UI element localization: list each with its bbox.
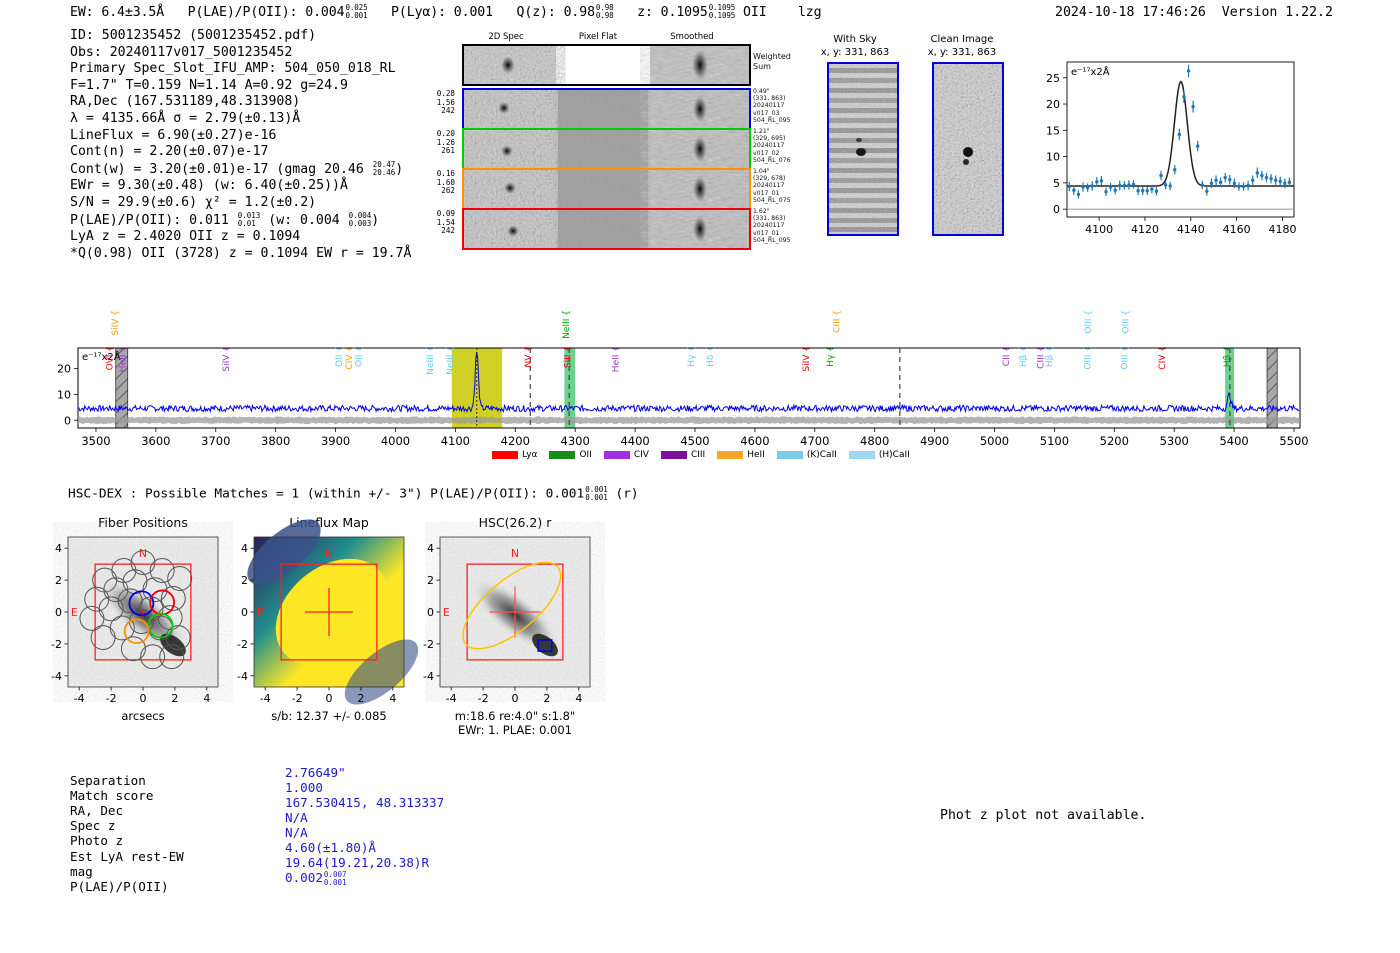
svg-text:OVI {: OVI { [106,346,116,370]
legend-label-(H)CaII: (H)CaII [879,450,910,460]
match-key-3: Spec z [70,818,116,833]
svg-text:OII {: OII { [354,346,364,367]
line-label-22: OIII { [1083,346,1093,370]
match-key-5: Est LyA rest-EW [70,849,184,864]
line-label-12: HeII { [611,346,621,372]
line-label-6: OII { [354,346,364,367]
svg-text:10: 10 [57,388,71,401]
svg-text:-2: -2 [51,638,62,651]
ew-value: 6.4±3.5Å [101,5,164,20]
svg-text:SiIV {: SiIV { [222,346,232,372]
svg-text:20: 20 [1046,98,1060,111]
svg-text:0: 0 [64,414,71,427]
svg-text:4: 4 [389,692,396,705]
svg-text:4140: 4140 [1177,223,1205,236]
svg-text:OIII {: OIII { [1121,346,1131,370]
line-label-0: SiIV { [111,310,121,336]
line-label-26: CIV { [1158,346,1168,370]
svg-text:5000: 5000 [980,434,1009,448]
legend-item-(H)CaII: (H)CaII [849,450,910,460]
svg-text:0: 0 [55,606,62,619]
line-label-5: CIV { [345,346,355,370]
match-value-1: 1.000 [285,780,323,795]
legend-item-HeII: HeII [717,450,765,460]
svg-text:Hβ {: Hβ { [1223,346,1233,367]
svg-text:20: 20 [57,363,71,376]
panel-xlabel: arcsecs [121,709,164,723]
info-radec: RA,Dec (167.531189,48.313908) [70,94,411,111]
plae-label: P(LAE)/P(OII): [188,5,298,20]
svg-text:5100: 5100 [1040,434,1069,448]
panel-sublabel2: EWr: 1. PLAE: 0.001 [458,723,572,735]
panel-title-hsc-image: HSC(26.2) r [479,515,553,530]
info-best-solution: *Q(0.98) OII (3728) z = 0.1094 EW r = 19… [70,246,411,263]
legend-label-Lyα: Lyα [522,450,537,460]
version-label: Version 1.22.2 [1222,5,1333,20]
cutout-subtitle-with-sky: x, y: 331, 863 [805,47,905,58]
svg-text:SiIV {: SiIV { [111,310,121,336]
svg-text:0: 0 [512,692,519,705]
svg-text:OIII {: OIII { [1122,310,1132,334]
svg-text:0: 0 [326,692,333,705]
line-label-9: NV { [524,346,534,367]
fiber-row-4-left-stats: 0.091.54242 [393,210,455,236]
match-value-0: 2.76649" [285,765,346,780]
svg-text:Hδ {: Hδ { [706,346,716,367]
svg-text:3500: 3500 [81,434,110,448]
svg-text:-4: -4 [74,692,85,705]
full-spectrum-panel: 0102035003600370038003900400041004200430… [0,268,1400,468]
image-panels: Fiber Positions-4-4-2-2002244NE+arcsecsL… [0,505,700,735]
match-key-6: mag [70,864,93,879]
line-label-10: NeIII { [562,310,572,339]
fiber-row-3-meta: 1.04"(329, 678)20240117v017_01504_RL_075 [753,168,823,204]
svg-text:Hβ {: Hβ { [1045,346,1055,367]
compass-north: N [139,547,147,560]
svg-text:OIII {: OIII { [1083,346,1093,370]
match-value-2: 167.530415, 48.313337 [285,795,444,810]
plya-value: 0.001 [454,5,493,20]
svg-text:+: + [139,607,147,618]
fiber-row-2-left-stats: 0.201.26261 [393,130,455,156]
legend-item-Lyα: Lyα [492,450,537,460]
svg-text:OII {: OII { [335,346,345,367]
svg-text:Hγ {: Hγ { [826,346,836,367]
svg-text:3700: 3700 [201,434,230,448]
qz-lo: 0.98 [596,12,614,20]
qz-label: Q(z): [517,5,556,20]
panel-sublabel: m:18.6 re:4.0" s:1.8" [455,709,575,723]
line-label-3: SiIV { [222,346,232,372]
plae-value: 0.004 [305,5,344,20]
line-label-7: NeIII { [426,346,436,375]
svg-text:2: 2 [171,692,178,705]
timestamp: 2024-10-18 17:46:26 [1055,5,1206,20]
fiber-row-1 [462,88,751,130]
line-label-16: Hγ { [826,346,836,367]
line-label-17: CIII { [832,310,842,333]
z-label: z: [637,5,653,20]
svg-text:Hγ {: Hγ { [687,346,697,367]
svg-text:-4: -4 [51,670,62,683]
line-label-18: CII { [1002,346,1012,366]
info-ewr: EWr = 9.30(±0.48) (w: 6.40(±0.25))Å [70,178,411,195]
line-label-21: Hβ { [1045,346,1055,367]
z-value: 0.1095 [661,5,708,20]
info-obs: Obs: 20240117v017_5001235452 [70,45,411,62]
svg-text:-2: -2 [423,638,434,651]
svg-text:HeII {: HeII { [118,346,128,372]
line-label-13: Hγ { [687,346,697,367]
mask-red [1267,348,1277,428]
line-label-19: Hβ { [1019,346,1029,367]
svg-text:Hβ {: Hβ { [1019,346,1029,367]
svg-text:2: 2 [55,574,62,587]
match-key-1: Match score [70,788,153,803]
hscdex-header: HSC-DEX : Possible Matches = 1 (within +… [68,486,639,502]
info-primary-spec: Primary Spec_Slot_IFU_AMP: 504_050_018_R… [70,61,411,78]
cutout-title-with-sky: With Sky [805,34,905,45]
svg-text:-4: -4 [446,692,457,705]
plya-label: P(Lyα): [391,5,446,20]
svg-text:4100: 4100 [441,434,470,448]
legend-label-CIII: CIII [691,450,705,460]
info-plae: P(LAE)/P(OII): 0.011 0.0130.01 (w: 0.004… [70,212,411,230]
svg-text:5300: 5300 [1160,434,1189,448]
svg-text:NeIII {: NeIII { [562,310,572,339]
svg-text:2: 2 [543,692,550,705]
legend-item-CIII: CIII [661,450,705,460]
info-lineflux: LineFlux = 6.90(±0.27)e-16 [70,128,411,145]
svg-text:3600: 3600 [141,434,170,448]
svg-text:4: 4 [575,692,582,705]
info-wavelength-sigma: λ = 4135.66Å σ = 2.79(±0.13)Å [70,111,411,128]
header-timestamp-version: 2024-10-18 17:46:26 Version 1.22.2 [1055,5,1333,20]
line-label-25: OIII { [1122,310,1132,334]
plae-lo: 0.001 [345,12,367,20]
svg-text:CIII {: CIII { [832,310,842,333]
svg-text:-4: -4 [423,670,434,683]
svg-text:3800: 3800 [261,434,290,448]
line-label-4: OII { [335,346,345,367]
svg-text:0: 0 [1053,203,1060,216]
fiber-row-4 [462,208,751,250]
svg-text:5: 5 [1053,177,1060,190]
compass-east: E [71,606,78,619]
z-lo: 0.1095 [709,12,736,20]
legend-label-CIV: CIV [634,450,649,460]
svg-text:4000: 4000 [381,434,410,448]
match-value-5: 4.60(±1.80)Å [285,840,376,855]
svg-text:-2: -2 [478,692,489,705]
svg-text:NeIII {: NeIII { [426,346,436,375]
legend-swatch-CIV [604,451,630,459]
line-label-24: OIII { [1121,346,1131,370]
classification-flag: lzg [798,5,822,20]
gmag-lo: 20.46 [373,169,396,177]
hscdex-filter: (r) [616,487,639,502]
svg-text:-2: -2 [292,692,303,705]
line-label-15: SiIV { [802,346,812,372]
source-info-block: ID: 5001235452 (5001235452.pdf) Obs: 202… [70,28,411,262]
fiber-row-1-left-stats: 0.281.56242 [393,90,455,116]
legend-item-OII: OII [549,450,591,460]
hscdex-text: HSC-DEX : Possible Matches = 1 (within +… [68,487,584,502]
cutout-image-clean [932,62,1004,236]
svg-text:4900: 4900 [920,434,949,448]
svg-text:25: 25 [1046,72,1060,85]
info-cont-n: Cont(n) = 2.20(±0.07)e-17 [70,144,411,161]
svg-text:4: 4 [241,542,248,555]
line-label-11: SiII { [563,346,573,368]
col-title-2dspec: 2D Spec [461,32,551,42]
legend-swatch-(H)CaII [849,451,875,459]
z-type: OII [743,5,767,20]
fiber-row-3-left-stats: 0.161.60262 [393,170,455,196]
info-redshifts: LyA z = 2.4020 OII z = 0.1094 [70,229,411,246]
cutout-image-with-sky [827,62,899,236]
svg-text:SiII {: SiII { [563,346,573,368]
compass-east: E [443,606,450,619]
info-cont-w: Cont(w) = 3.20(±0.01)e-17 (gmag 20.46 20… [70,161,411,179]
match-value-6: 19.64(19.21,20.38)R [285,855,429,870]
line-label-1: OVI { [106,346,116,370]
weighted-sum-label: Weighted Sum [753,52,791,72]
line-label-8: NeIII { [446,346,456,375]
panel-title-fiber-positions: Fiber Positions [98,515,188,530]
svg-text:5500: 5500 [1279,434,1308,448]
fiber-row-1-meta: 0.49"(331, 863)20240117v017_03504_RL_095 [753,88,823,124]
svg-text:-2: -2 [106,692,117,705]
header-summary-line: EW: 6.4±3.5Å P(LAE)/P(OII): 0.0040.0250.… [70,4,821,20]
compass-north: N [325,547,333,560]
cutout-title-clean: Clean Image [912,34,1012,45]
fiber-row-3 [462,168,751,210]
match-key-2: RA, Dec [70,803,123,818]
legend-item-(K)CaII: (K)CaII [777,450,837,460]
legend-label-(K)CaII: (K)CaII [807,450,837,460]
svg-text:HeII {: HeII { [611,346,621,372]
weighted-sum-row [462,44,751,86]
match-table-rows: Separation2.76649"Match score1.000RA, De… [70,773,490,898]
svg-text:CIV {: CIV { [1158,346,1168,370]
svg-text:SiIV {: SiIV { [802,346,812,372]
svg-text:4: 4 [55,542,62,555]
svg-text:NeIII {: NeIII { [446,346,456,375]
svg-text:2: 2 [241,574,248,587]
spectrum-legend: LyαOIICIVCIIIHeII(K)CaII(H)CaII [492,444,922,463]
info-sn-chi2: S/N = 29.9(±0.6) χ² = 1.2(±0.2) [70,195,411,212]
svg-text:OIII {: OIII { [1084,310,1094,334]
svg-text:10: 10 [1046,151,1060,164]
photz-message: Phot z plot not available. [940,808,1146,823]
ew-label: EW: [70,5,94,20]
info-id: ID: 5001235452 (5001235452.pdf) [70,28,411,45]
line-label-23: OIII { [1084,310,1094,334]
legend-swatch-OII [549,451,575,459]
fiber-row-4-meta: 1.62"(331, 863)20240117v017_01504_RL_095 [753,208,823,244]
match-key-0: Separation [70,773,146,788]
match-key-4: Photo z [70,833,123,848]
svg-text:NV {: NV { [524,346,534,367]
line-label-14: Hδ { [706,346,716,367]
col-title-smoothed: Smoothed [647,32,737,42]
legend-swatch-HeII [717,451,743,459]
info-seeing: F=1.7" T=0.159 N=1.14 A=0.92 g=24.9 [70,78,411,95]
panel-sublabel: s/b: 12.37 +/- 0.085 [271,709,387,723]
legend-label-HeII: HeII [747,450,765,460]
line-label-27: Hβ { [1223,346,1233,367]
svg-text:-4: -4 [260,692,271,705]
svg-text:CIV {: CIV { [345,346,355,370]
svg-text:4: 4 [427,542,434,555]
spec2d-panel: 2D Spec Pixel Flat Smoothed Weighted Sum [425,32,765,254]
svg-text:e⁻¹⁷x2Å: e⁻¹⁷x2Å [1071,65,1110,78]
legend-label-OII: OII [579,450,591,460]
svg-text:4180: 4180 [1269,223,1297,236]
col-title-pixelflat: Pixel Flat [553,32,643,42]
match-table: Separation2.76649"Match score1.000RA, De… [70,773,490,898]
svg-text:15: 15 [1046,124,1060,137]
svg-text:4: 4 [203,692,210,705]
svg-text:3900: 3900 [321,434,350,448]
svg-text:0: 0 [427,606,434,619]
compass-east: E [257,606,264,619]
svg-text:5400: 5400 [1219,434,1248,448]
svg-text:5200: 5200 [1100,434,1129,448]
svg-text:-4: -4 [237,670,248,683]
svg-text:4160: 4160 [1223,223,1251,236]
legend-item-CIV: CIV [604,450,649,460]
legend-swatch-Lyα [492,451,518,459]
svg-text:2: 2 [427,574,434,587]
svg-text:4100: 4100 [1085,223,1113,236]
emission-line-zoom-plot: 051015202541004120414041604180e⁻¹⁷x2Å [1035,52,1300,222]
svg-text:CII {: CII { [1002,346,1012,366]
legend-swatch-(K)CaII [777,451,803,459]
line-label-2: HeII { [118,346,128,372]
svg-text:2: 2 [357,692,364,705]
fiber-row-2-meta: 1.21"(329, 695)20240117v017_02504_RL_076 [753,128,823,164]
match-value-7: 0.0020.0070.001 [285,870,347,887]
fiber-row-2 [462,128,751,170]
svg-text:4120: 4120 [1131,223,1159,236]
match-value-3: N/A [285,810,308,825]
legend-swatch-CIII [661,451,687,459]
svg-text:-2: -2 [237,638,248,651]
compass-north: N [511,547,519,560]
match-value-4: N/A [285,825,308,840]
svg-text:0: 0 [241,606,248,619]
qz-value: 0.98 [564,5,595,20]
svg-text:0: 0 [140,692,147,705]
match-key-7: P(LAE)/P(OII) [70,879,169,894]
cutout-subtitle-clean: x, y: 331, 863 [912,47,1012,58]
